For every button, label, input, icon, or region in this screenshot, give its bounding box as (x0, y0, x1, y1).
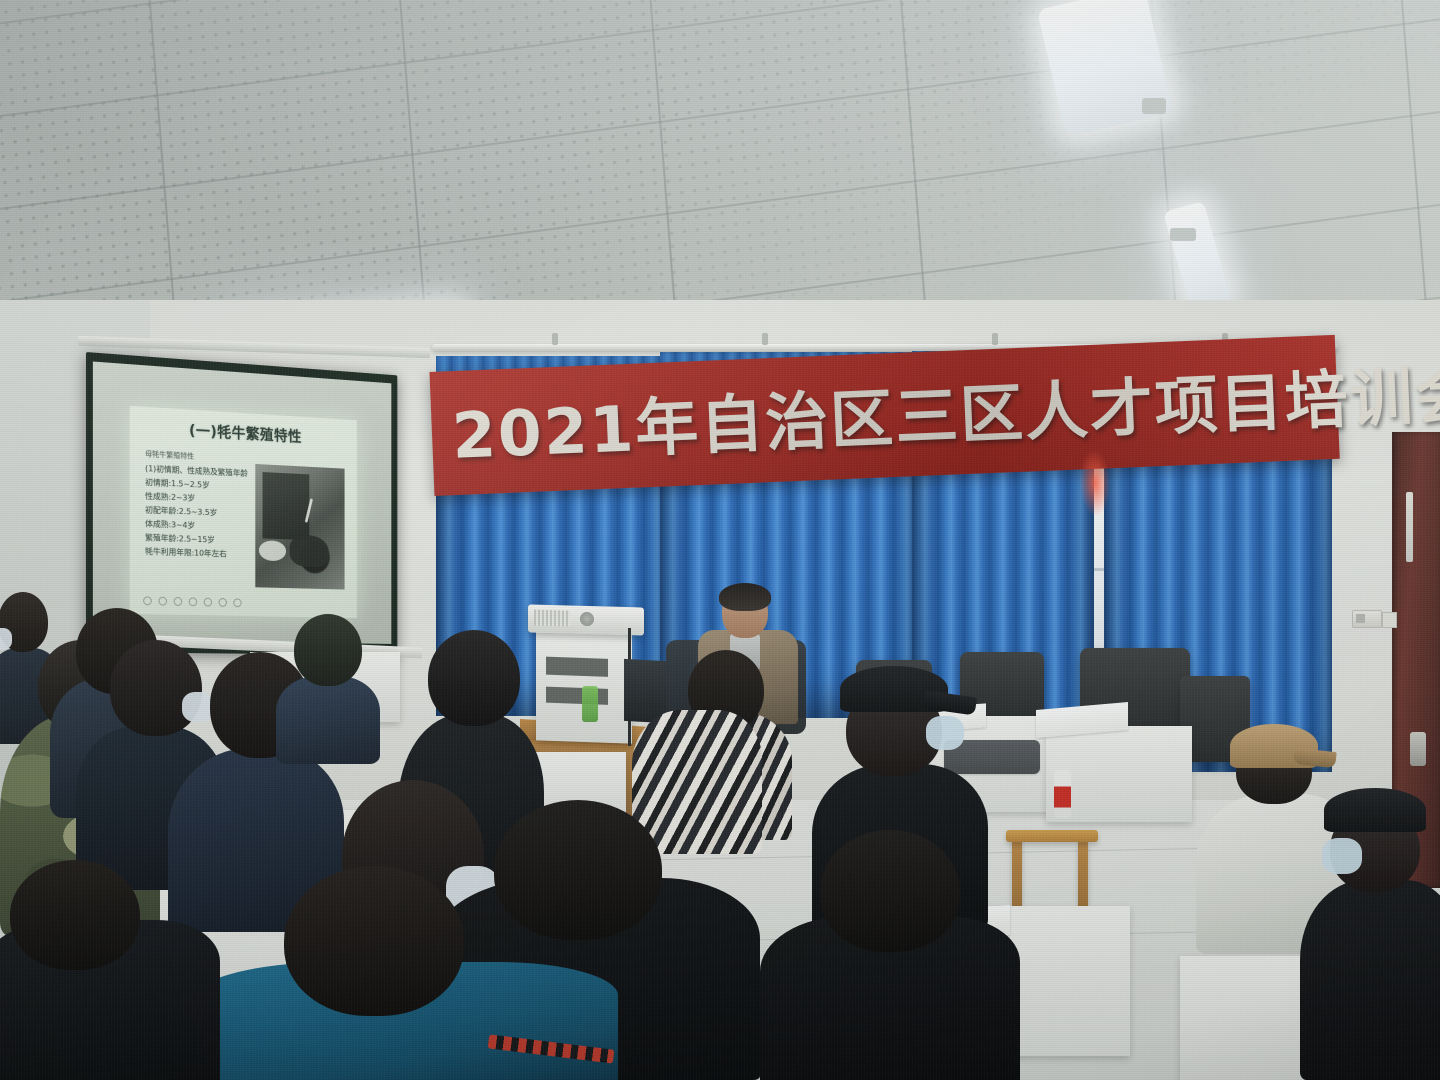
highlighter-icon[interactable] (158, 597, 167, 606)
pen-icon[interactable] (143, 596, 152, 605)
slide-yak-photo (255, 464, 344, 590)
projector-vent (534, 610, 570, 627)
projection-screen-surface: (一)牦牛繁殖特性 母牦牛繁殖特性 (1)初情期、性成熟及繁殖年龄 初情期:1.… (93, 362, 391, 644)
slide-nav-icon[interactable] (204, 598, 212, 607)
tube-end-cap-center (1142, 98, 1166, 114)
eraser-icon[interactable] (189, 597, 197, 606)
black-cap-right (1324, 788, 1426, 832)
attendee-far-left-foreground (0, 860, 220, 1080)
door-vision-panel (1406, 492, 1413, 562)
face-mask-right (1322, 838, 1362, 874)
banner-light-reflection (1079, 449, 1111, 516)
pointer-icon[interactable] (174, 597, 182, 606)
attendee-back-right-black (1300, 788, 1440, 1080)
presenter-hair (719, 583, 771, 611)
light-switch[interactable] (1352, 610, 1382, 628)
door-handle[interactable] (1410, 732, 1426, 766)
menu-icon[interactable] (219, 598, 227, 607)
classroom-photo-scene: 2021年自治区三区人才项目培训会 (一)牦牛繁殖特性 母牦牛繁殖特性 (1)初… (0, 0, 1440, 1080)
projected-slide: (一)牦牛繁殖特性 母牦牛繁殖特性 (1)初情期、性成熟及繁殖年龄 初情期:1.… (130, 406, 357, 618)
attendee-teal-jacket-foreground (188, 866, 618, 1080)
attendee-right-foreground-black (760, 830, 1020, 1080)
projector-lens (580, 612, 594, 626)
face-mask-black-cap (926, 716, 964, 750)
water-bottle[interactable] (1054, 770, 1071, 818)
tube-end-cap-rear (1170, 228, 1196, 241)
green-drink-bottle[interactable] (582, 686, 598, 722)
slide-title: (一)牦牛繁殖特性 (130, 416, 357, 450)
slideshow-toolbar[interactable] (143, 596, 241, 607)
more-icon[interactable] (233, 598, 241, 607)
event-banner-text: 2021年自治区三区人才项目培训会 (450, 350, 1331, 477)
slide-body-text: 母牦牛繁殖特性 (1)初情期、性成熟及繁殖年龄 初情期:1.5~2.5岁 性成熟… (145, 448, 264, 562)
projector (528, 604, 644, 635)
wall-outlet[interactable] (1382, 612, 1397, 628)
attendee-green-cap (276, 614, 380, 764)
slide-line-7: 牦牛利用年限:10年左右 (145, 544, 264, 562)
